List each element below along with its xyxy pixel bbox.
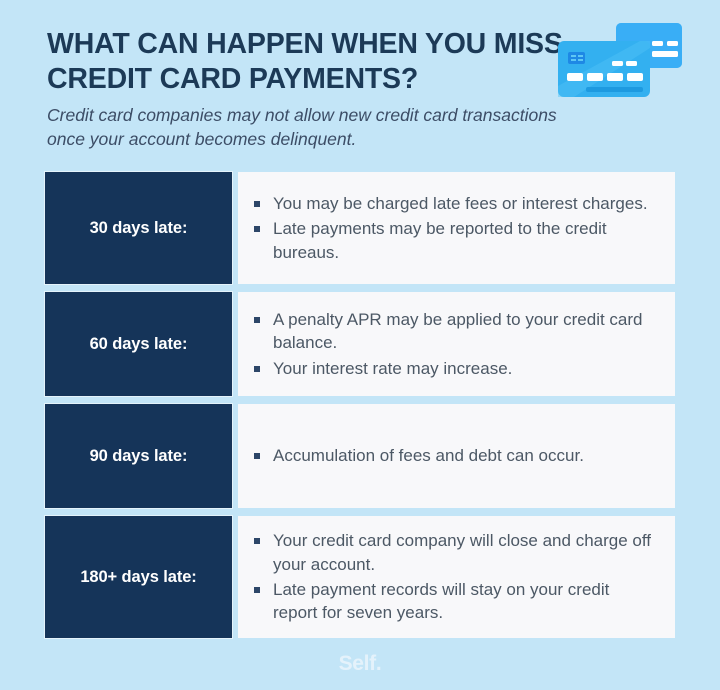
table-row: 180+ days late: Your credit card company… [45,516,675,638]
stage-consequences: Your credit card company will close and … [238,516,675,638]
list-item-text: Late payments may be reported to the cre… [273,219,607,261]
stage-consequences: A penalty APR may be applied to your cre… [238,292,675,396]
bullet-list: You may be charged late fees or interest… [253,192,657,264]
table-row: 60 days late: A penalty APR may be appli… [45,292,675,396]
self-logo: Self. [0,652,720,676]
bullet-list: A penalty APR may be applied to your cre… [253,308,657,380]
square-bullet-icon [254,538,260,544]
list-item: A penalty APR may be applied to your cre… [253,308,657,355]
stage-label: 90 days late: [45,404,232,508]
stage-consequences: Accumulation of fees and debt can occur. [238,404,675,508]
stage-label: 30 days late: [45,172,232,284]
bullet-list: Accumulation of fees and debt can occur. [253,444,657,467]
square-bullet-icon [254,453,260,459]
list-item: Late payments may be reported to the cre… [253,217,657,264]
list-item: Accumulation of fees and debt can occur. [253,444,657,467]
square-bullet-icon [254,366,260,372]
stage-label: 60 days late: [45,292,232,396]
page-subtitle: Credit card companies may not allow new … [47,103,587,151]
bullet-list: Your credit card company will close and … [253,529,657,624]
stage-consequences: You may be charged late fees or interest… [238,172,675,284]
list-item: Your interest rate may increase. [253,357,657,380]
square-bullet-icon [254,317,260,323]
stage-label: 180+ days late: [45,516,232,638]
square-bullet-icon [254,201,260,207]
list-item-text: Your credit card company will close and … [273,531,651,573]
table-row: 90 days late: Accumulation of fees and d… [45,404,675,508]
list-item-text: Accumulation of fees and debt can occur. [273,446,584,465]
list-item: Late payment records will stay on your c… [253,578,657,625]
list-item-text: You may be charged late fees or interest… [273,194,648,213]
table-row: 30 days late: You may be charged late fe… [45,172,675,284]
list-item: You may be charged late fees or interest… [253,192,657,215]
credit-cards-icon [556,22,684,100]
page-title: WHAT CAN HAPPEN WHEN YOU MISS CREDIT CAR… [47,27,567,97]
list-item-text: A penalty APR may be applied to your cre… [273,310,642,352]
infographic-header: WHAT CAN HAPPEN WHEN YOU MISS CREDIT CAR… [0,0,720,160]
late-payment-stages-list: 30 days late: You may be charged late fe… [45,172,675,638]
square-bullet-icon [254,226,260,232]
list-item-text: Late payment records will stay on your c… [273,580,609,622]
list-item-text: Your interest rate may increase. [273,359,512,378]
list-item: Your credit card company will close and … [253,529,657,576]
square-bullet-icon [254,587,260,593]
